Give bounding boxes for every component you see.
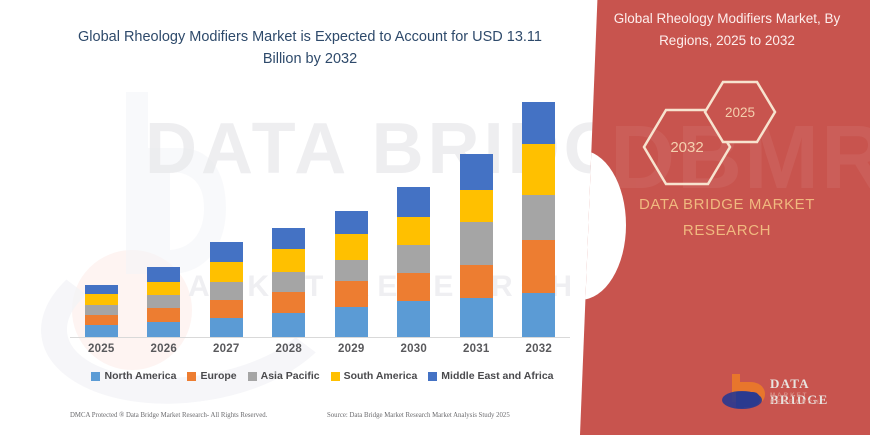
bar-segment — [85, 305, 118, 315]
bar-segment — [272, 228, 305, 249]
bar-segment — [147, 267, 180, 281]
bar-segment — [397, 217, 430, 245]
bar-segment — [272, 249, 305, 271]
bar-segment — [272, 313, 305, 338]
legend-label: South America — [344, 370, 418, 382]
bar-segment — [272, 292, 305, 313]
bar-segment — [85, 294, 118, 304]
bar-segment — [147, 282, 180, 296]
stacked-bar — [335, 211, 368, 338]
bar-segment — [522, 102, 555, 144]
x-axis-label: 2028 — [258, 343, 321, 355]
stacked-bar — [147, 267, 180, 338]
panel-brand: DATA BRIDGE MARKET RESEARCH — [598, 192, 856, 244]
x-axis-label: 2026 — [133, 343, 196, 355]
hexagon-2032-label: 2032 — [670, 139, 703, 156]
panel-title: Global Rheology Modifiers Market, By Reg… — [598, 8, 856, 52]
hexagon-2025-label: 2025 — [725, 105, 755, 120]
bar-segment — [522, 144, 555, 195]
bar-segment — [460, 190, 493, 222]
bar-segment — [210, 262, 243, 282]
bar-column — [195, 95, 258, 338]
bar-segment — [272, 272, 305, 293]
bar-series-container — [70, 95, 570, 338]
bar-segment — [460, 298, 493, 338]
legend-item[interactable]: South America — [331, 370, 418, 382]
bar-segment — [335, 281, 368, 307]
bar-segment — [147, 322, 180, 338]
bar-segment — [335, 234, 368, 260]
legend-swatch-icon — [428, 372, 437, 381]
company-logo: DATA BRIDGE MARKET RESEARCH — [722, 372, 862, 416]
bar-segment — [460, 265, 493, 298]
hexagon-2025: 2025 — [703, 80, 777, 144]
stacked-bar — [272, 228, 305, 338]
x-axis-label: 2032 — [508, 343, 571, 355]
bar-segment — [210, 300, 243, 318]
chart-legend: North AmericaEuropeAsia PacificSouth Ame… — [70, 370, 575, 382]
x-axis-label: 2029 — [320, 343, 383, 355]
stacked-bar — [522, 102, 555, 338]
bar-segment — [335, 211, 368, 234]
legend-label: Europe — [200, 370, 236, 382]
x-axis-line — [70, 337, 570, 338]
bar-segment — [210, 282, 243, 300]
legend-swatch-icon — [248, 372, 257, 381]
bar-column — [320, 95, 383, 338]
footer-source: Source: Data Bridge Market Research Mark… — [327, 412, 510, 419]
bar-segment — [522, 293, 555, 338]
logo-subtitle: MARKET RESEARCH — [770, 392, 862, 406]
stacked-bar — [460, 154, 493, 338]
bar-segment — [397, 301, 430, 338]
bar-column — [508, 95, 571, 338]
footer-copyright: DMCA Protected ® Data Bridge Market Rese… — [70, 412, 267, 419]
bar-segment — [147, 295, 180, 308]
stacked-bar — [210, 242, 243, 338]
bar-segment — [335, 307, 368, 338]
legend-item[interactable]: Europe — [187, 370, 236, 382]
legend-label: Asia Pacific — [261, 370, 320, 382]
hexagon-group: 2032 2025 — [620, 80, 840, 195]
bar-segment — [397, 187, 430, 218]
bar-segment — [522, 240, 555, 293]
right-accent-panel: DBMR Global Rheology Modifiers Market, B… — [580, 0, 870, 435]
bar-segment — [335, 260, 368, 282]
legend-swatch-icon — [187, 372, 196, 381]
chart-title: Global Rheology Modifiers Market is Expe… — [60, 26, 560, 70]
legend-swatch-icon — [331, 372, 340, 381]
x-axis-tick-labels: 20252026202720282029203020312032 — [70, 343, 570, 355]
bar-column — [133, 95, 196, 338]
x-axis-label: 2031 — [445, 343, 508, 355]
stacked-bar — [397, 187, 430, 338]
bar-segment — [460, 222, 493, 264]
legend-item[interactable]: Asia Pacific — [248, 370, 320, 382]
bar-segment — [85, 285, 118, 295]
bar-segment — [147, 308, 180, 322]
bar-column — [70, 95, 133, 338]
bar-segment — [460, 154, 493, 190]
x-axis-label: 2025 — [70, 343, 133, 355]
stacked-bar — [85, 285, 118, 338]
panel-brand-line2: RESEARCH — [598, 218, 856, 244]
legend-label: North America — [104, 370, 176, 382]
x-axis-label: 2030 — [383, 343, 446, 355]
bar-segment — [522, 195, 555, 240]
legend-item[interactable]: Middle East and Africa — [428, 370, 553, 382]
chart-plot-area — [70, 95, 570, 338]
bar-column — [258, 95, 321, 338]
infographic-root: DATA BRIDGE MARKET RESEARCH Global Rheol… — [0, 0, 870, 435]
legend-swatch-icon — [91, 372, 100, 381]
bar-segment — [85, 315, 118, 325]
legend-item[interactable]: North America — [91, 370, 176, 382]
bar-segment — [397, 245, 430, 273]
bar-column — [445, 95, 508, 338]
legend-label: Middle East and Africa — [441, 370, 553, 382]
bar-segment — [210, 318, 243, 338]
x-axis-label: 2027 — [195, 343, 258, 355]
bar-column — [383, 95, 446, 338]
data-bridge-mark-icon — [722, 372, 768, 412]
bar-segment — [397, 273, 430, 301]
bar-segment — [210, 242, 243, 262]
panel-brand-line1: DATA BRIDGE MARKET — [598, 192, 856, 218]
